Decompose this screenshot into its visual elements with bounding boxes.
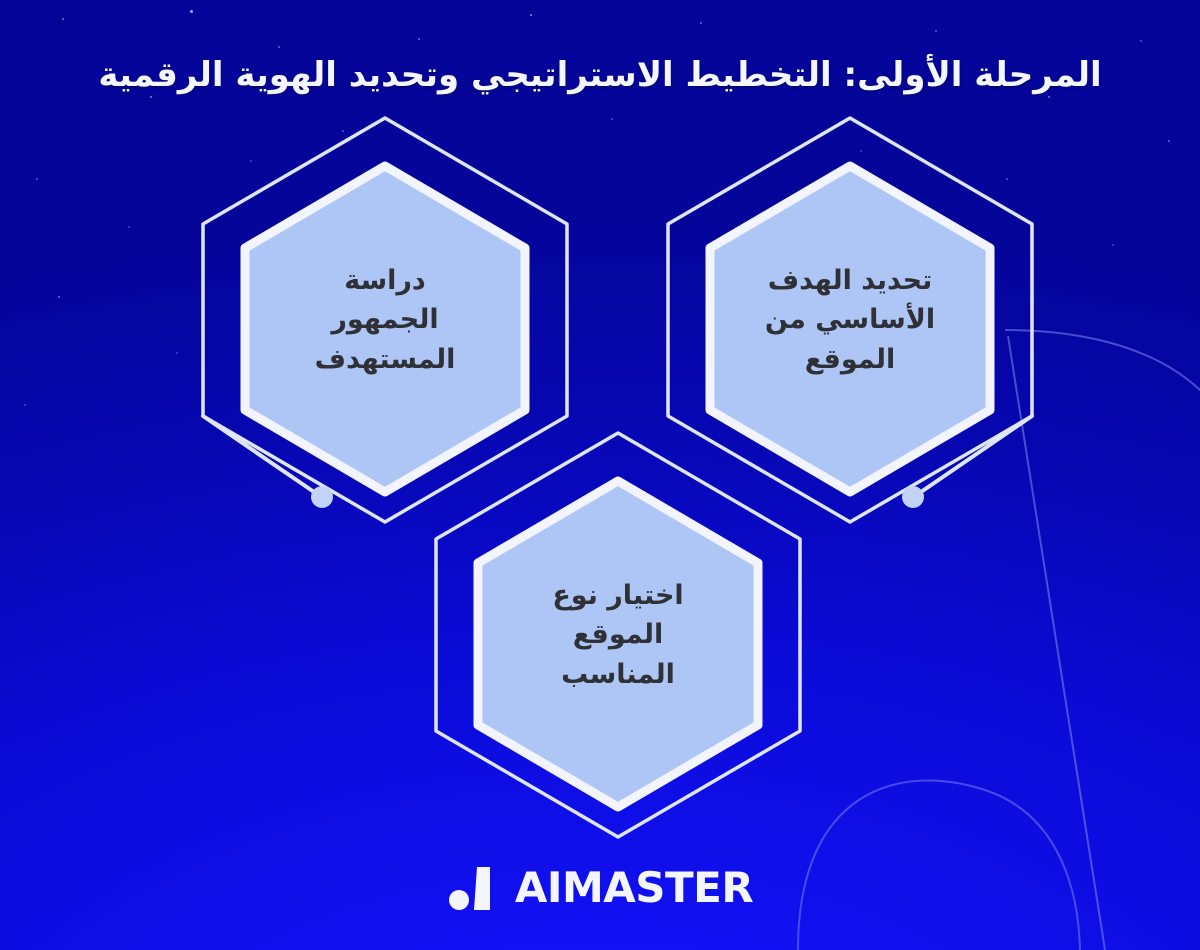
- logo-wordmark: AIMASTER: [515, 863, 753, 912]
- slide-canvas: المرحلة الأولى: التخطيط الاستراتيجي وتحد…: [0, 0, 1200, 950]
- hexagon-label-bottom: اختيار نوع الموقع المناسب: [418, 425, 818, 845]
- aimaster-logo-mark-icon: [447, 865, 501, 911]
- hexagon-card-bottom[interactable]: اختيار نوع الموقع المناسب: [418, 425, 818, 845]
- brand-logo: AIMASTER: [0, 863, 1200, 912]
- page-title: المرحلة الأولى: التخطيط الاستراتيجي وتحد…: [0, 53, 1200, 98]
